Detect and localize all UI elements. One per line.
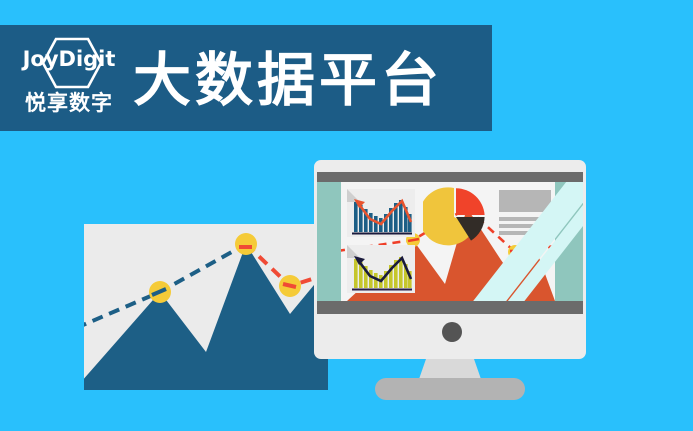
doc-block — [499, 190, 551, 212]
logo-chinese-name: 悦享数字 — [14, 93, 124, 114]
monitor-top-bar — [317, 172, 583, 182]
pie-chart — [423, 186, 485, 248]
bar-chart-blue-svg — [347, 189, 415, 237]
page-title: 大数据平台 — [133, 49, 443, 111]
bar-chart-olive-svg — [347, 245, 415, 293]
mountain-chart-svg — [84, 224, 328, 390]
logo-wordmark: JoyDigit — [14, 49, 124, 70]
power-button-icon[interactable] — [442, 322, 462, 342]
screen-left-accent — [317, 182, 341, 301]
monitor-stand-base — [375, 378, 525, 400]
mountain-chart-panel — [84, 224, 328, 390]
header-banner: JoyDigit 悦享数字 大数据平台 — [0, 25, 492, 131]
brand-logo: JoyDigit 悦享数字 — [14, 35, 124, 123]
illustration-canvas: JoyDigit 悦享数字 大数据平台 — [0, 0, 693, 431]
monitor-bottom-bar — [317, 301, 583, 314]
pie-slice-red — [456, 188, 485, 215]
bar-chart-blue — [347, 189, 415, 237]
desktop-monitor — [314, 160, 586, 359]
monitor-screen — [317, 182, 583, 301]
data-marker — [235, 233, 257, 255]
bar-chart-olive — [347, 245, 415, 293]
